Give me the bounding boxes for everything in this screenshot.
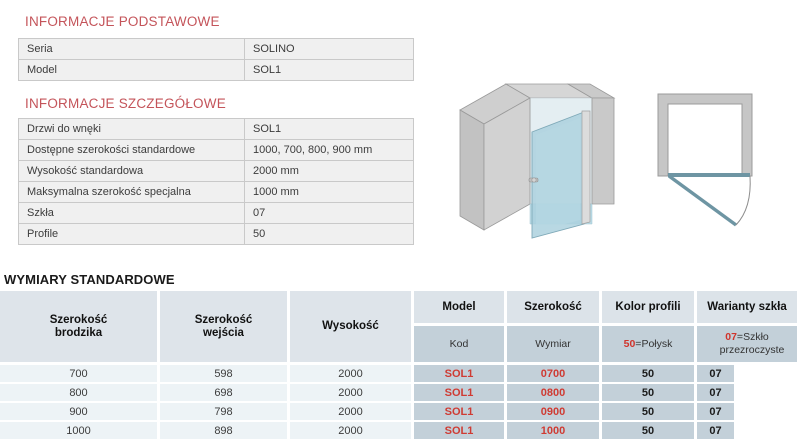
cell-model: SOL1 — [414, 422, 507, 441]
col-header-model: Model — [414, 291, 507, 326]
cell-kolor: 50 — [602, 365, 697, 384]
detail-row-value: SOL1 — [245, 119, 414, 140]
szklo-text-line2: przezroczyste — [710, 344, 785, 357]
cell-szerokosc-kod: 0700 — [507, 365, 602, 384]
cell-kolor: 50 — [602, 384, 697, 403]
subheader-kolor-legend: 50=Połysk — [602, 326, 697, 365]
table-row: 1000 898 2000 SOL1 1000 50 07 — [0, 422, 800, 441]
basic-row-label: Seria — [19, 39, 245, 60]
cell-szklo: 07 — [697, 365, 734, 384]
table-row: Profile 50 — [19, 224, 414, 245]
cell-szklo-spacer — [734, 403, 800, 422]
detail-row-value: 50 — [245, 224, 414, 245]
cell-szerokosc-kod: 0800 — [507, 384, 602, 403]
kolor-code: 50 — [624, 338, 636, 350]
basic-info-table: Seria SOLINO Model SOL1 — [18, 38, 414, 81]
cell-szklo: 07 — [697, 384, 734, 403]
detail-row-label: Dostępne szerokości standardowe — [19, 140, 245, 161]
cell-szer-wejscia: 898 — [160, 422, 290, 441]
cell-szklo-spacer — [734, 365, 800, 384]
heading-informacje-szczegolowe: INFORMACJE SZCZEGÓŁOWE — [25, 96, 226, 111]
cell-kolor: 50 — [602, 403, 697, 422]
shower-door-plan-swing-illustration — [640, 82, 795, 262]
detail-row-label: Maksymalna szerokość specjalna — [19, 182, 245, 203]
szklo-text-line1: Szkło — [743, 331, 769, 343]
shower-door-isometric-illustration — [450, 72, 620, 262]
table-row: Seria SOLINO — [19, 39, 414, 60]
cell-szer-wejscia: 698 — [160, 384, 290, 403]
heading-wymiary-standardowe: WYMIARY STANDARDOWE — [4, 272, 175, 287]
table-row: Dostępne szerokości standardowe 1000, 70… — [19, 140, 414, 161]
cell-szklo-spacer — [734, 422, 800, 441]
cell-wysokosc: 2000 — [290, 384, 414, 403]
table-row: 800 698 2000 SOL1 0800 50 07 — [0, 384, 800, 403]
detail-row-value: 2000 mm — [245, 161, 414, 182]
cell-kolor: 50 — [602, 422, 697, 441]
cell-wysokosc: 2000 — [290, 422, 414, 441]
basic-row-label: Model — [19, 60, 245, 81]
col-header-wysokosc: Wysokość — [290, 291, 414, 365]
table-row: Model SOL1 — [19, 60, 414, 81]
dims-header-row-1: Szerokość brodzika Szerokość wejścia Wys… — [0, 291, 800, 326]
table-row: Drzwi do wnęki SOL1 — [19, 119, 414, 140]
detail-row-value: 07 — [245, 203, 414, 224]
cell-model: SOL1 — [414, 384, 507, 403]
cell-szer-brodzika: 800 — [0, 384, 160, 403]
col-header-line1: Szerokość — [50, 314, 108, 326]
col-header-szerokosc-brodzika: Szerokość brodzika — [0, 291, 160, 365]
standard-dimensions-table: Szerokość brodzika Szerokość wejścia Wys… — [0, 291, 800, 441]
col-header-line2: wejścia — [203, 327, 244, 339]
cell-szer-wejscia: 798 — [160, 403, 290, 422]
cell-szerokosc-kod: 1000 — [507, 422, 602, 441]
col-header-line1: Wysokość — [322, 320, 379, 332]
cell-szklo-wrapper: 07 — [697, 365, 800, 384]
cell-szklo: 07 — [697, 422, 734, 441]
col-header-kolor-profili: Kolor profili — [602, 291, 697, 326]
detail-row-label: Profile — [19, 224, 245, 245]
basic-row-value: SOL1 — [245, 60, 414, 81]
subheader-szklo-legend: 07=Szkło przezroczyste — [697, 326, 800, 365]
table-row: Szkła 07 — [19, 203, 414, 224]
col-header-warianty-szkla: Warianty szkła — [697, 291, 800, 326]
table-row: Maksymalna szerokość specjalna 1000 mm — [19, 182, 414, 203]
detail-row-value: 1000 mm — [245, 182, 414, 203]
cell-szklo-wrapper: 07 — [697, 384, 800, 403]
cell-szer-brodzika: 1000 — [0, 422, 160, 441]
col-header-szerokosc: Szerokość — [507, 291, 602, 326]
subheader-szerokosc-wymiar: Wymiar — [507, 326, 602, 365]
cell-szklo-wrapper: 07 — [697, 403, 800, 422]
cell-wysokosc: 2000 — [290, 365, 414, 384]
col-header-line2: brodzika — [55, 327, 102, 339]
cell-model: SOL1 — [414, 403, 507, 422]
cell-szklo-spacer — [734, 384, 800, 403]
cell-model: SOL1 — [414, 365, 507, 384]
kolor-text: Połysk — [641, 338, 672, 350]
col-header-line1: Szerokość — [195, 314, 253, 326]
cell-szklo: 07 — [697, 403, 734, 422]
cell-szklo-wrapper: 07 — [697, 422, 800, 441]
col-header-szerokosc-wejscia: Szerokość wejścia — [160, 291, 290, 365]
cell-szerokosc-kod: 0900 — [507, 403, 602, 422]
cell-szer-brodzika: 700 — [0, 365, 160, 384]
cell-szer-wejscia: 598 — [160, 365, 290, 384]
cell-szer-brodzika: 900 — [0, 403, 160, 422]
heading-informacje-podstawowe: INFORMACJE PODSTAWOWE — [25, 14, 220, 29]
detail-row-label: Szkła — [19, 203, 245, 224]
table-row: 700 598 2000 SOL1 0700 50 07 — [0, 365, 800, 384]
subheader-model-kod: Kod — [414, 326, 507, 365]
table-row: Wysokość standardowa 2000 mm — [19, 161, 414, 182]
detail-info-table: Drzwi do wnęki SOL1 Dostępne szerokości … — [18, 118, 414, 245]
detail-row-value: 1000, 700, 800, 900 mm — [245, 140, 414, 161]
detail-row-label: Wysokość standardowa — [19, 161, 245, 182]
szklo-code: 07 — [725, 331, 737, 343]
basic-row-value: SOLINO — [245, 39, 414, 60]
detail-row-label: Drzwi do wnęki — [19, 119, 245, 140]
table-row: 900 798 2000 SOL1 0900 50 07 — [0, 403, 800, 422]
cell-wysokosc: 2000 — [290, 403, 414, 422]
